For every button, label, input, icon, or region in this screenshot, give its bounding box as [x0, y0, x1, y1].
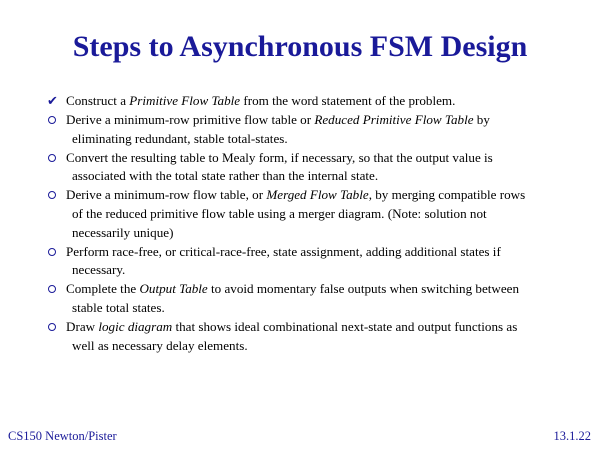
- circle-glyph: [48, 248, 56, 256]
- list-item: ✔Construct a Primitive Flow Table from t…: [47, 92, 533, 111]
- list-item-text: Draw logic diagram that shows ideal comb…: [66, 318, 533, 355]
- text-run: Construct a: [66, 93, 129, 108]
- circle-icon: [47, 186, 62, 205]
- list-item-paragraph: Derive a minimum-row primitive flow tabl…: [66, 111, 533, 148]
- circle-glyph: [48, 323, 56, 331]
- list-item-paragraph: Convert the resulting table to Mealy for…: [66, 149, 533, 186]
- list-item-text: Complete the Output Table to avoid momen…: [66, 280, 533, 317]
- footer-slide-number: 13.1.22: [554, 428, 592, 444]
- circle-icon: [47, 111, 62, 130]
- circle-icon: [47, 149, 62, 168]
- list-item-paragraph: Draw logic diagram that shows ideal comb…: [66, 318, 533, 355]
- text-run: Complete the: [66, 281, 139, 296]
- steps-list: ✔Construct a Primitive Flow Table from t…: [47, 92, 533, 356]
- text-run: from the word statement of the problem.: [240, 93, 455, 108]
- circle-icon: [47, 318, 62, 337]
- list-item-text: Construct a Primitive Flow Table from th…: [66, 92, 533, 111]
- emphasis-term: Primitive Flow Table: [129, 93, 240, 108]
- list-item-paragraph: Construct a Primitive Flow Table from th…: [66, 92, 533, 111]
- list-item-paragraph: Derive a minimum-row flow table, or Merg…: [66, 186, 533, 242]
- list-item: Perform race-free, or critical-race-free…: [47, 243, 533, 280]
- slide-canvas: Steps to Asynchronous FSM Design ✔Constr…: [0, 0, 600, 450]
- list-item: Convert the resulting table to Mealy for…: [47, 149, 533, 186]
- list-item: Derive a minimum-row flow table, or Merg…: [47, 186, 533, 242]
- list-item-paragraph: Perform race-free, or critical-race-free…: [66, 243, 533, 280]
- list-item-text: Perform race-free, or critical-race-free…: [66, 243, 533, 280]
- circle-icon: [47, 280, 62, 299]
- emphasis-term: logic diagram: [98, 319, 172, 334]
- text-run: Derive a minimum-row flow table, or: [66, 187, 266, 202]
- list-item: Complete the Output Table to avoid momen…: [47, 280, 533, 317]
- check-glyph: ✔: [47, 94, 58, 109]
- list-item-text: Derive a minimum-row flow table, or Merg…: [66, 186, 533, 242]
- emphasis-term: Merged Flow Table: [266, 187, 368, 202]
- page-title: Steps to Asynchronous FSM Design: [0, 29, 600, 65]
- circle-glyph: [48, 285, 56, 293]
- emphasis-term: Output Table: [139, 281, 207, 296]
- circle-glyph: [48, 191, 56, 199]
- text-run: Convert the resulting table to Mealy for…: [66, 150, 493, 184]
- text-run: Derive a minimum-row primitive flow tabl…: [66, 112, 314, 127]
- list-item-text: Convert the resulting table to Mealy for…: [66, 149, 533, 186]
- text-run: Draw: [66, 319, 98, 334]
- text-run: Perform race-free, or critical-race-free…: [66, 244, 501, 278]
- circle-glyph: [48, 116, 56, 124]
- emphasis-term: Reduced Primitive Flow Table: [314, 112, 473, 127]
- check-icon: ✔: [47, 92, 62, 111]
- list-item: Draw logic diagram that shows ideal comb…: [47, 318, 533, 355]
- circle-glyph: [48, 154, 56, 162]
- list-item: Derive a minimum-row primitive flow tabl…: [47, 111, 533, 148]
- list-item-text: Derive a minimum-row primitive flow tabl…: [66, 111, 533, 148]
- list-item-paragraph: Complete the Output Table to avoid momen…: [66, 280, 533, 317]
- footer-course-label: CS150 Newton/Pister: [8, 428, 117, 444]
- circle-icon: [47, 243, 62, 262]
